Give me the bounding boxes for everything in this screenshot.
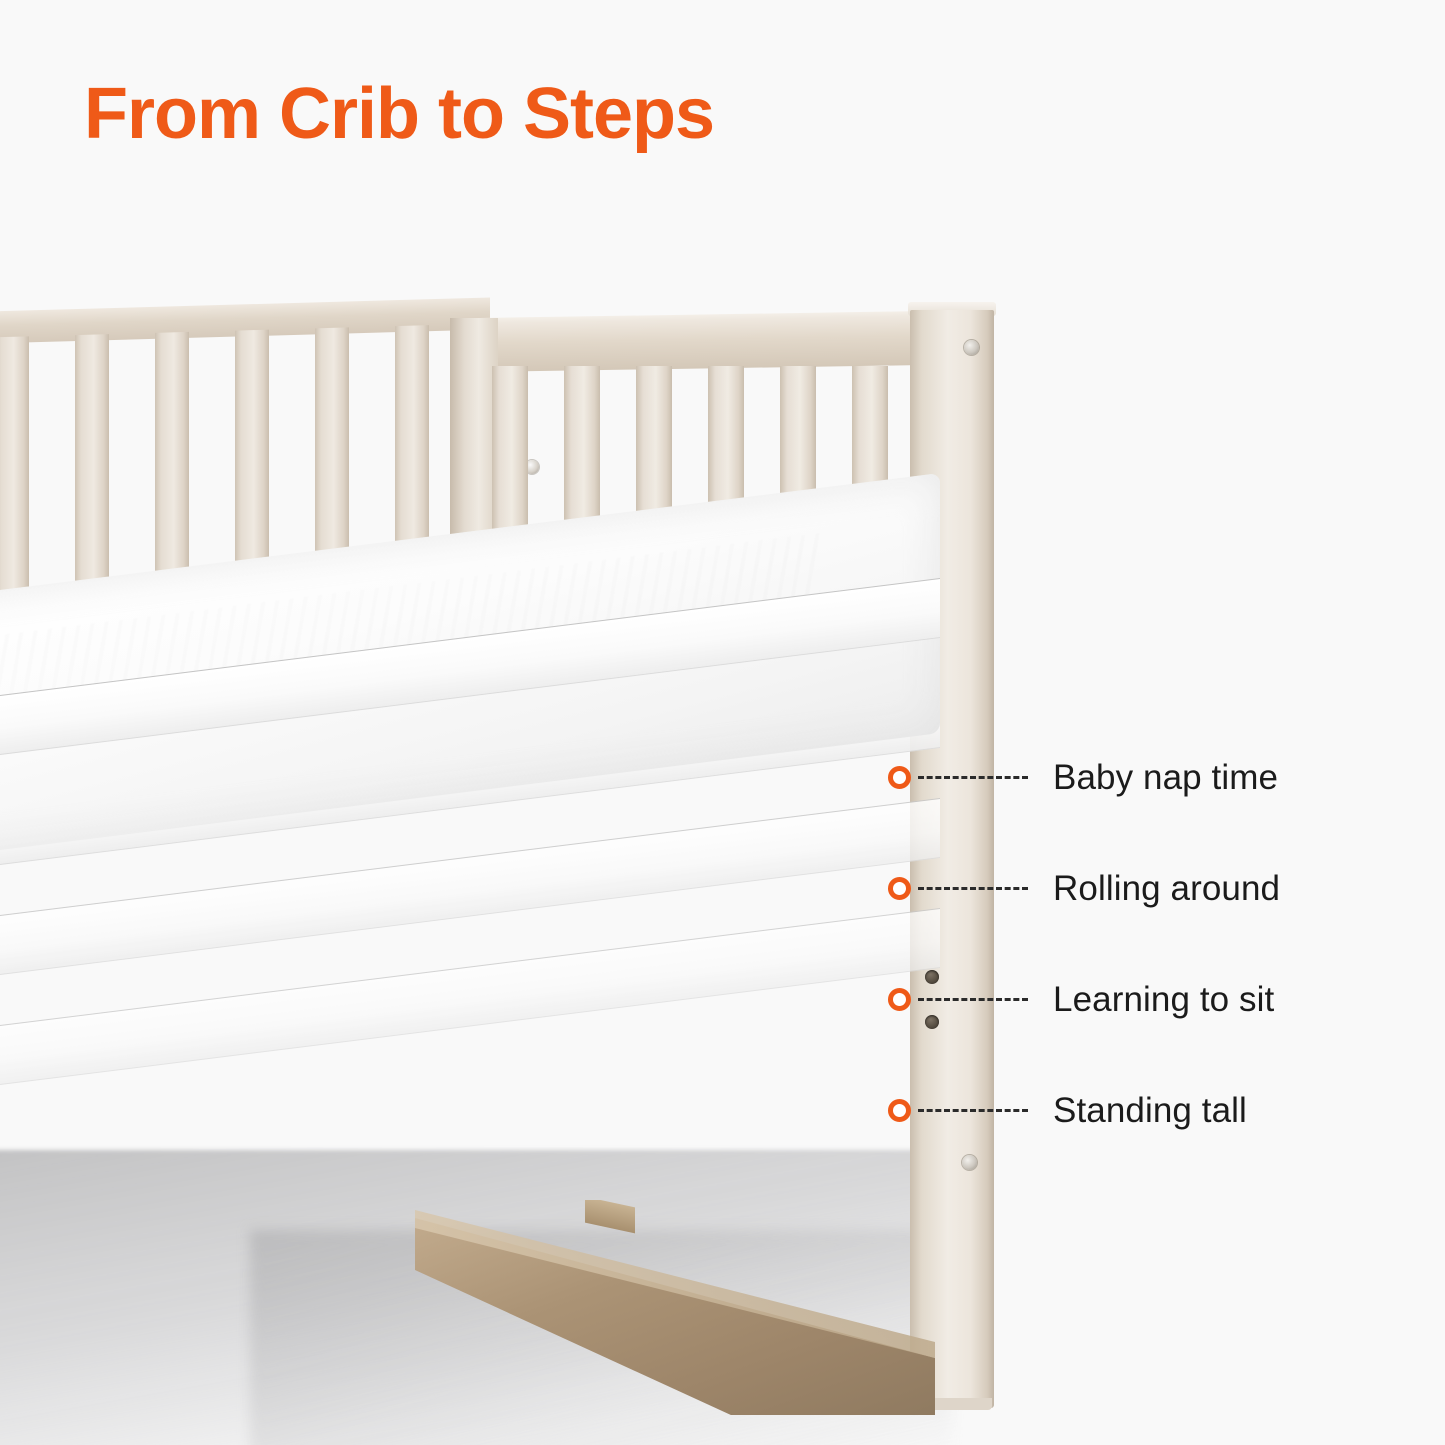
side-rail-top-bar — [480, 317, 930, 372]
leader-line — [918, 998, 1028, 1001]
callout-label: Rolling around — [1053, 866, 1280, 912]
mattress-position-2 — [0, 820, 940, 906]
post-screw-icon — [964, 340, 979, 355]
circle-marker-icon — [888, 766, 911, 789]
base-support-body — [415, 1218, 935, 1415]
circle-marker-icon — [888, 877, 911, 900]
callout-label: Standing tall — [1053, 1088, 1247, 1134]
mattress-position-4 — [0, 1040, 940, 1126]
product-infographic: From Crib to Steps — [0, 0, 1445, 1445]
callout-label: Learning to sit — [1053, 977, 1274, 1023]
crib-base-support — [415, 1200, 935, 1415]
leader-line — [918, 887, 1028, 890]
page-title: From Crib to Steps — [84, 78, 714, 150]
leader-line — [918, 1109, 1028, 1112]
mattress-position-1-side — [0, 710, 940, 796]
post-screw-icon — [962, 1155, 977, 1170]
leader-line — [918, 776, 1028, 779]
circle-marker-icon — [888, 988, 911, 1011]
base-support-tip — [585, 1200, 635, 1233]
callout-label: Baby nap time — [1053, 755, 1278, 801]
circle-marker-icon — [888, 1099, 911, 1122]
mattress-position-3 — [0, 930, 940, 1016]
product-image — [0, 270, 1080, 1445]
post-hole-icon — [925, 1015, 939, 1029]
